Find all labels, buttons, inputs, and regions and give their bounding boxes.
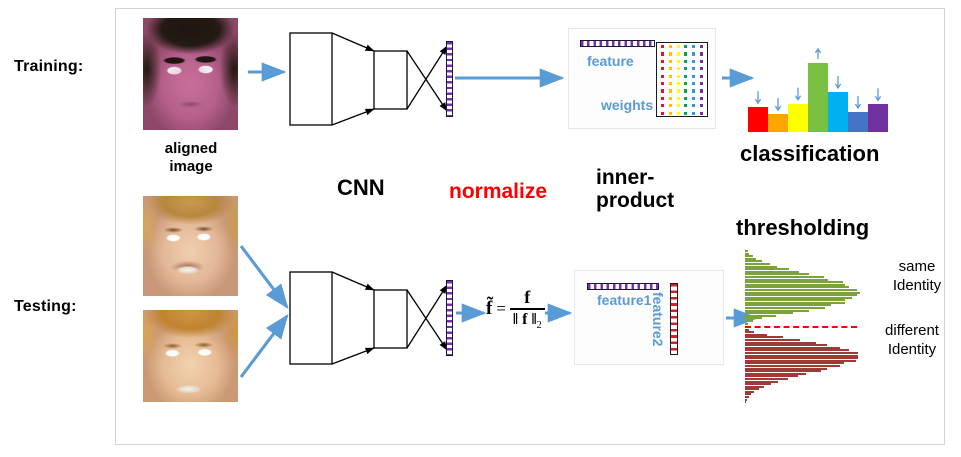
figure-root: Training: Testing: aligned image [0,0,961,457]
weights-matrix-dot [684,104,687,107]
cnn-output-vector-testing [446,280,453,356]
formula-denominator-sub: 2 [537,320,542,331]
weights-matrix-dot [692,60,695,63]
weights-matrix-dot [669,104,672,107]
weights-matrix-dot [684,82,687,85]
weights-matrix-dot [677,104,680,107]
feature2-label: feature2 [650,292,666,346]
weights-matrix-dot [692,45,695,48]
classification-bar [768,114,788,132]
inner-product-line2: product [596,189,706,212]
weights-matrix-dot [677,112,680,115]
weights-matrix-dot [661,89,664,92]
inner-product-line1: inner- [596,166,706,189]
cnn-output-vector-training [446,41,453,117]
weights-matrix-dot [700,104,703,107]
weights-matrix-dot [700,89,703,92]
weights-matrix-row [657,102,707,109]
weights-matrix-dot [677,97,680,100]
formula-fraction: f ‖ f ‖2 [510,288,545,331]
weights-matrix-dot [669,82,672,85]
feature1-label: feature1 [597,292,651,308]
feature-vector-bar [580,40,655,47]
legend-different-identity: different Identity [870,322,954,360]
feature1-vector-bar [587,283,659,290]
weights-matrix-dot [684,52,687,55]
weights-matrix-dot [669,45,672,48]
row-label-training: Training: [14,58,83,76]
weights-matrix-dot [692,112,695,115]
feature2-vector-bar [670,283,678,355]
weights-matrix-dot [677,82,680,85]
weights-matrix-dot [661,82,664,85]
classification-bar [808,63,828,132]
weights-matrix-dot [684,75,687,78]
test-face-image-1 [143,196,238,296]
histogram-same-identity [745,250,871,325]
classification-bar-chart [748,28,894,132]
weights-matrix-dot [684,89,687,92]
weights-matrix [656,42,708,117]
weights-matrix-dot [692,75,695,78]
formula-denominator-text: ‖ f ‖ [513,311,537,328]
weights-matrix-row [657,65,707,72]
classification-bar [788,104,808,132]
normalize-formula: f̃ = f ‖ f ‖2 [486,288,545,331]
weights-matrix-dot [677,67,680,70]
weights-matrix-dot [677,89,680,92]
classification-bars [748,56,894,132]
weights-matrix-dot [661,112,664,115]
stage-label-classification: classification [740,142,879,166]
threshold-histogram [745,250,871,390]
classification-bar [848,112,868,132]
histogram-row [745,323,871,325]
weights-matrix-dot [700,75,703,78]
weights-matrix-dot [692,89,695,92]
classification-bar [828,92,848,132]
training-face-image [143,18,238,130]
weights-matrix-dot [661,60,664,63]
weights-matrix-row [657,43,707,50]
weights-matrix-dot [661,75,664,78]
weights-matrix-row [657,87,707,94]
stage-label-normalize: normalize [449,180,547,203]
weights-matrix-row [657,58,707,65]
weights-label: weights [601,97,653,113]
legend-same-identity: same Identity [875,258,959,296]
weights-matrix-dot [669,75,672,78]
different-identity-line2: Identity [870,341,954,360]
row-label-testing: Testing: [14,298,77,316]
formula-denominator: ‖ f ‖2 [510,310,545,331]
weights-matrix-row [657,110,707,117]
weights-matrix-dot [692,67,695,70]
weights-matrix-dot [661,67,664,70]
weights-matrix-dot [669,67,672,70]
weights-matrix-dot [692,97,695,100]
classification-bar [748,107,768,132]
weights-matrix-dot [692,82,695,85]
aligned-caption-line2: image [136,158,246,176]
weights-matrix-dot [700,97,703,100]
weights-matrix-row [657,95,707,102]
stage-label-thresholding: thresholding [736,216,869,240]
weights-matrix-dot [669,52,672,55]
weights-matrix-dot [677,75,680,78]
weights-matrix-dot [692,104,695,107]
weights-matrix-dot [684,60,687,63]
formula-numerator: f [519,288,535,308]
weights-matrix-dot [700,67,703,70]
aligned-image-caption: aligned image [136,140,246,175]
aligned-caption-line1: aligned [136,140,246,158]
weights-matrix-dot [700,45,703,48]
weights-matrix-dot [661,45,664,48]
classification-bar [868,104,888,132]
formula-lhs: f̃ [486,298,492,320]
weights-matrix-dot [669,60,672,63]
histogram-row [745,401,871,403]
weights-matrix-dot [669,112,672,115]
stage-label-cnn: CNN [337,176,385,200]
weights-matrix-dot [684,67,687,70]
weights-matrix-dot [700,52,703,55]
weights-matrix-dot [700,112,703,115]
threshold-dashed-line [745,326,857,328]
weights-matrix-dot [684,97,687,100]
weights-matrix-dot [684,45,687,48]
weights-matrix-dot [700,82,703,85]
different-identity-line1: different [870,322,954,341]
weights-matrix-dot [669,89,672,92]
weights-matrix-dot [684,112,687,115]
histogram-different-identity [745,329,871,404]
stage-label-inner-product: inner- product [596,166,706,212]
same-identity-line1: same [875,258,959,277]
weights-matrix-row [657,80,707,87]
weights-matrix-dot [661,52,664,55]
weights-matrix-dot [677,52,680,55]
weights-matrix-dot [677,60,680,63]
same-identity-line2: Identity [875,277,959,296]
weights-matrix-dot [661,97,664,100]
weights-matrix-dot [692,52,695,55]
weights-matrix-row [657,50,707,57]
weights-matrix-dot [700,60,703,63]
weights-matrix-row [657,73,707,80]
test-face-image-2 [143,310,238,402]
formula-equals: = [496,299,506,319]
weights-matrix-dot [669,97,672,100]
weights-matrix-dot [677,45,680,48]
feature-label: feature [587,53,634,69]
weights-matrix-dot [661,104,664,107]
